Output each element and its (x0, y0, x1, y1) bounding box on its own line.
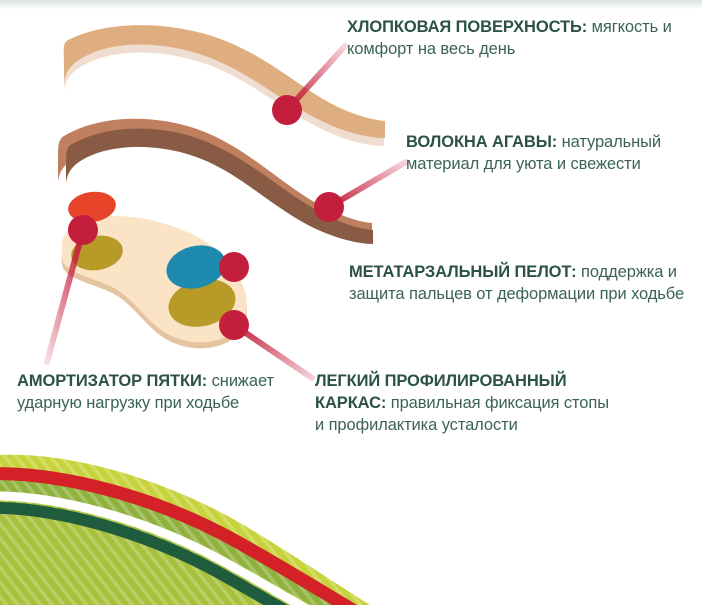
callout-metatarsal: МЕТАТАРЗАЛЬНЫЙ ПЕЛОТ: поддержка и защита… (349, 262, 699, 306)
callout-agave-heading: ВОЛОКНА АГАВЫ: (406, 133, 557, 151)
infographic-canvas: ХЛОПКОВАЯ ПОВЕРХНОСТЬ: мягкость и комфор… (0, 0, 702, 605)
marker-dot-agave[interactable] (314, 192, 344, 222)
marker-dot-heel[interactable] (68, 215, 98, 245)
marker-dot-metatarsal[interactable] (219, 252, 249, 282)
callout-heel: АМОРТИЗАТОР ПЯТКИ: снижает ударную нагру… (17, 371, 307, 415)
callout-agave: ВОЛОКНА АГАВЫ: натуральный материал для … (406, 132, 696, 176)
callout-cotton-heading: ХЛОПКОВАЯ ПОВЕРХНОСТЬ: (347, 18, 587, 36)
callout-cotton: ХЛОПКОВАЯ ПОВЕРХНОСТЬ: мягкость и комфор… (347, 17, 687, 61)
top-gradient-strip (0, 0, 702, 9)
marker-dot-frame[interactable] (219, 310, 249, 340)
green-ribbon-wave (0, 430, 450, 605)
marker-dot-cotton[interactable] (272, 95, 302, 125)
callout-frame: ЛЕГКИЙ ПРОФИЛИРОВАННЫЙ КАРКАС: правильна… (315, 371, 615, 436)
callout-metatarsal-heading: МЕТАТАРЗАЛЬНЫЙ ПЕЛОТ: (349, 263, 577, 281)
callout-heel-heading: АМОРТИЗАТОР ПЯТКИ: (17, 372, 207, 390)
